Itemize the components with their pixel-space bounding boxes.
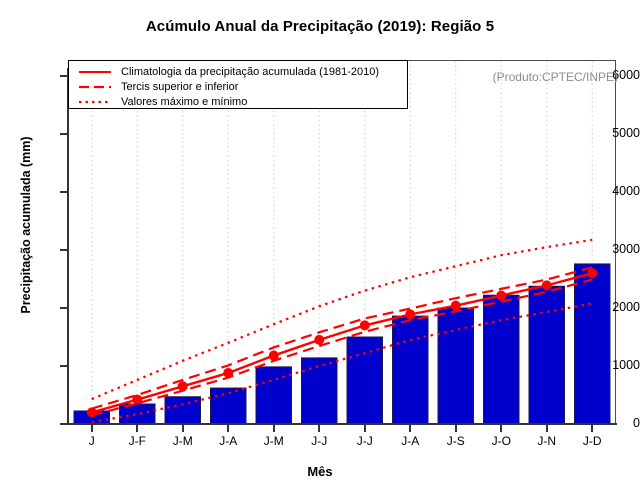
bar (393, 316, 428, 423)
bar (484, 295, 519, 423)
x-tick-mark (182, 425, 184, 432)
plot-svg (69, 61, 615, 423)
data-point-marker (542, 280, 552, 290)
y-tick-label: 1000 (594, 358, 640, 372)
data-point-marker (405, 309, 415, 319)
x-tick-mark (409, 425, 411, 432)
x-tick-label: J (89, 434, 95, 448)
x-tick-label: J-A (401, 434, 419, 448)
data-point-marker (132, 395, 142, 405)
chart-figure: Acúmulo Anual da Precipitação (2019): Re… (0, 0, 640, 500)
legend-label-tercis: Tercis superior e inferior (117, 81, 238, 93)
x-tick-label: J-A (219, 434, 237, 448)
x-tick-mark (546, 425, 548, 432)
data-point-marker (223, 368, 233, 378)
legend-key-dotted-line-icon (75, 96, 117, 108)
y-tick-mark (60, 307, 67, 309)
x-tick-mark (591, 425, 593, 432)
x-tick-mark (136, 425, 138, 432)
y-tick-mark (60, 423, 67, 425)
chart-title: Acúmulo Anual da Precipitação (2019): Re… (0, 18, 640, 35)
x-tick-mark (364, 425, 366, 432)
data-point-marker (496, 291, 506, 301)
data-point-marker (314, 335, 324, 345)
y-tick-mark (60, 133, 67, 135)
y-tick-mark (60, 249, 67, 251)
bars-group (74, 264, 610, 423)
legend-key-dashed-line-icon (75, 81, 117, 93)
legend-label-climatologia: Climatologia da precipitação acumulada (… (117, 66, 379, 78)
bar (575, 264, 610, 423)
data-point-marker (269, 351, 279, 361)
x-tick-mark (227, 425, 229, 432)
y-axis-line (67, 68, 69, 425)
x-tick-mark (500, 425, 502, 432)
bar (256, 367, 291, 423)
data-point-marker (87, 407, 97, 417)
x-tick-label: J-S (447, 434, 465, 448)
bar (211, 388, 246, 423)
x-tick-mark (455, 425, 457, 432)
source-annotation: (Produto:CPTEC/INPE) (493, 70, 618, 84)
x-axis-line (67, 423, 617, 425)
bar (529, 286, 564, 423)
plot-area (68, 60, 616, 424)
legend-item-climatologia: Climatologia da precipitação acumulada (… (75, 65, 401, 79)
legend-item-valores: Valores máximo e mínimo (75, 95, 401, 109)
y-tick-label: 2000 (594, 300, 640, 314)
x-tick-mark (91, 425, 93, 432)
legend-item-tercis: Tercis superior e inferior (75, 80, 401, 94)
x-tick-label: J-J (357, 434, 373, 448)
y-tick-mark (60, 75, 67, 77)
x-tick-label: J-F (129, 434, 146, 448)
x-tick-label: J-M (173, 434, 193, 448)
bar (302, 358, 337, 423)
x-tick-label: J-O (492, 434, 511, 448)
bar (438, 308, 473, 423)
y-tick-label: 4000 (594, 184, 640, 198)
data-point-marker (587, 268, 597, 278)
y-tick-mark (60, 191, 67, 193)
data-point-marker (178, 381, 188, 391)
x-tick-label: J-N (537, 434, 556, 448)
x-axis-title: Mês (0, 464, 640, 479)
legend-key-solid-line-icon (75, 66, 117, 78)
legend: Climatologia da precipitação acumulada (… (68, 60, 408, 109)
x-tick-mark (273, 425, 275, 432)
y-tick-label: 5000 (594, 126, 640, 140)
data-point-marker (451, 301, 461, 311)
data-point-marker (360, 320, 370, 330)
y-tick-label: 0 (594, 416, 640, 430)
y-tick-label: 3000 (594, 242, 640, 256)
legend-label-valores: Valores máximo e mínimo (117, 96, 247, 108)
y-axis-title: Precipitação acumulada (mm) (19, 95, 33, 355)
x-tick-label: J-M (264, 434, 284, 448)
x-tick-mark (318, 425, 320, 432)
x-tick-label: J-J (311, 434, 327, 448)
x-tick-label: J-D (583, 434, 602, 448)
y-tick-mark (60, 365, 67, 367)
